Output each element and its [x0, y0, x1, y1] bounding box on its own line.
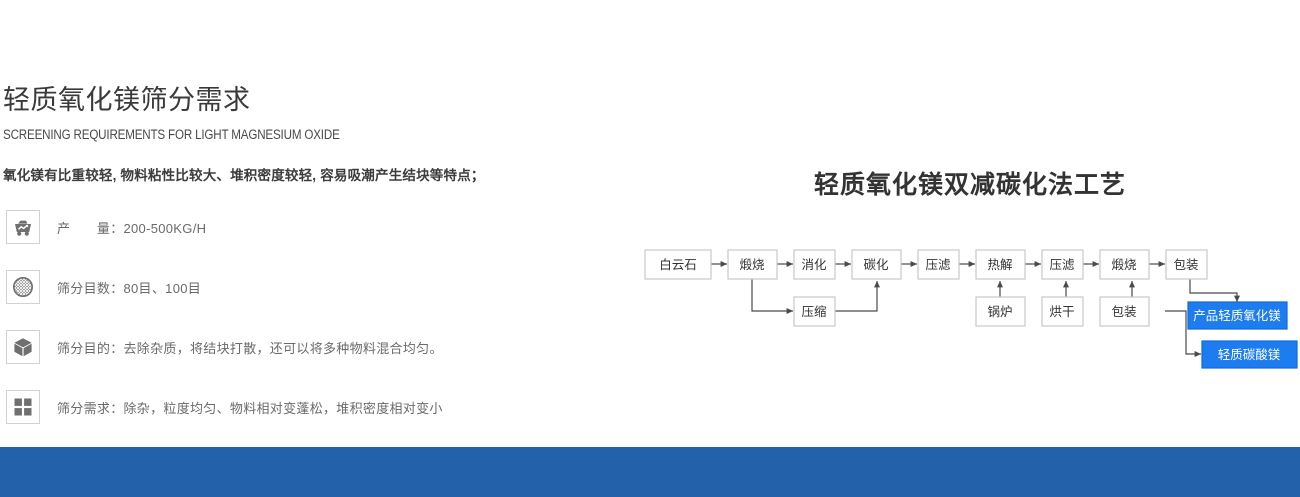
page-root: 轻质氧化镁筛分需求 SCREENING REQUIREMENTS FOR LIG… — [0, 0, 1300, 497]
flow-node-label: 煅烧 — [739, 257, 765, 272]
list-item: 筛分需求：除杂，粒度均匀、物料相对变蓬松，堆积密度相对变小 — [0, 385, 640, 445]
flowchart-title: 轻质氧化镁双减碳化法工艺 — [640, 165, 1300, 201]
list-item-label: 筛分目的：去除杂质，将结块打散，还可以将多种物料混合均匀。 — [57, 338, 443, 357]
flow-node-label: 包装 — [1111, 305, 1136, 319]
feature-list: 产 量：200-500KG/H — [0, 205, 640, 445]
list-item: 筛分目数：80目、100目 — [0, 265, 640, 325]
list-item-label: 产 量：200-500KG/H — [57, 218, 206, 237]
cube-box-icon — [6, 330, 40, 364]
flow-node-label: 包装 — [1173, 258, 1198, 272]
lead-description: 氧化镁有比重较轻, 物料粘性比较大、堆积密度较轻, 容易吸潮产生结块等特点； — [3, 164, 485, 184]
mine-cart-icon — [6, 210, 40, 244]
process-flowchart: 白云石 煅烧 消化 碳化 压滤 热解 压滤 煅烧 包装 压缩 锅炉 烘干 包装 … — [640, 236, 1300, 386]
flow-node-label: 白云石 — [659, 257, 697, 272]
flow-node-label: 压滤 — [925, 258, 951, 272]
process-flow-section: 轻质氧化镁双减碳化法工艺 — [640, 0, 1300, 440]
grid-four-icon — [6, 390, 40, 424]
list-item-label: 筛分目数：80目、100目 — [57, 278, 201, 297]
page-title: 轻质氧化镁筛分需求 — [3, 86, 251, 116]
mesh-sieve-icon — [6, 270, 40, 304]
list-item: 产 量：200-500KG/H — [0, 205, 640, 265]
flow-node-label: 消化 — [801, 258, 827, 272]
list-item: 筛分目的：去除杂质，将结块打散，还可以将多种物料混合均匀。 — [0, 325, 640, 385]
page-subtitle-english: SCREENING REQUIREMENTS FOR LIGHT MAGNESI… — [3, 127, 340, 142]
flow-node-label: 热解 — [987, 258, 1012, 272]
flow-node-label: 压滤 — [1049, 258, 1075, 272]
screening-requirements-section: 轻质氧化镁筛分需求 SCREENING REQUIREMENTS FOR LIG… — [0, 0, 640, 440]
flow-node-label: 锅炉 — [987, 304, 1012, 319]
flow-node-label: 烘干 — [1049, 305, 1074, 319]
list-item-label: 筛分需求：除杂，粒度均匀、物料相对变蓬松，堆积密度相对变小 — [57, 398, 443, 417]
flow-output-label: 轻质碳酸镁 — [1218, 347, 1281, 362]
footer-bar — [0, 447, 1300, 497]
flow-node-label: 碳化 — [863, 258, 889, 272]
flow-output-label: 产品轻质氧化镁 — [1193, 308, 1281, 323]
flow-node-label: 压缩 — [801, 304, 826, 319]
flow-node-label: 煅烧 — [1111, 257, 1137, 272]
